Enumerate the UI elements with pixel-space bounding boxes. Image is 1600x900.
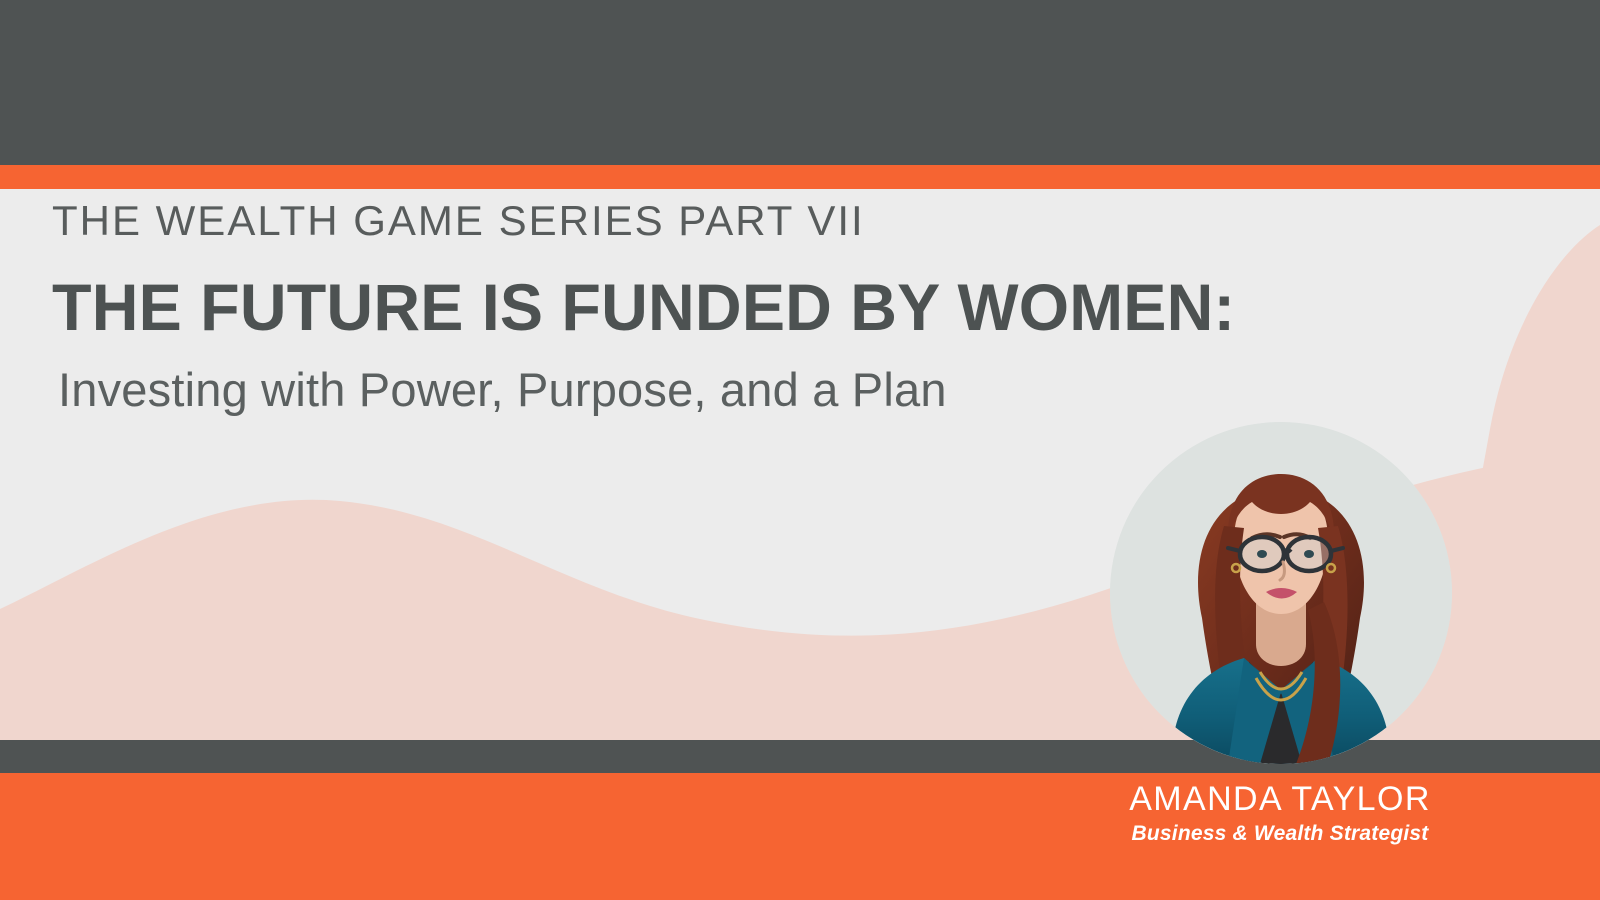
speaker-portrait [1110, 422, 1452, 764]
page-subtitle: Investing with Power, Purpose, and a Pla… [58, 366, 1259, 413]
speaker-role: Business & Wealth Strategist [1070, 821, 1490, 846]
header-accent-rule [0, 165, 1600, 189]
promo-banner: EXPAND YOUR EMPIRE LEAD AND EMPOWER HER … [0, 0, 1600, 900]
speaker-caption: AMANDA TAYLOR Business & Wealth Strategi… [1070, 780, 1490, 846]
footer-dark-band [0, 740, 1600, 773]
header-bar [0, 0, 1600, 165]
page-title: THE FUTURE IS FUNDED BY WOMEN: [52, 274, 1235, 340]
speaker-name: AMANDA TAYLOR [1070, 780, 1490, 819]
series-kicker: THE WEALTH GAME SERIES PART VII [52, 200, 1259, 242]
title-block: THE WEALTH GAME SERIES PART VII THE FUTU… [52, 200, 1259, 413]
